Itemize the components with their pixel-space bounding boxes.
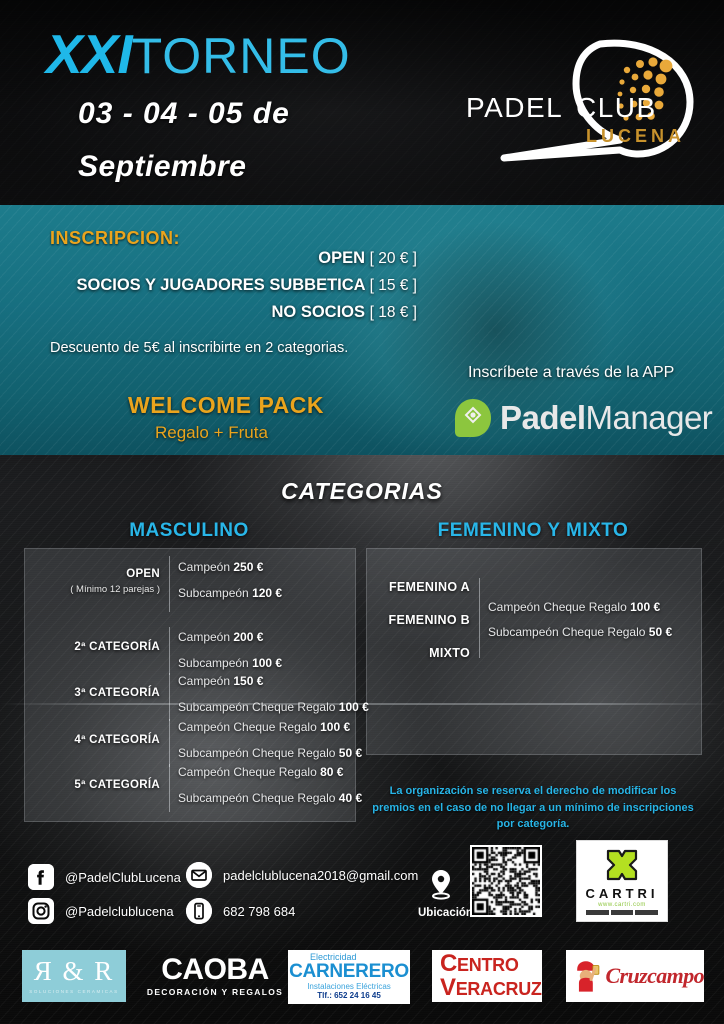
cartri-wordmark: CARTRI <box>585 886 658 901</box>
prize-amount: 50 € <box>649 625 672 639</box>
sponsor-centro-veracruz[interactable]: CENTRO VERACRUZ <box>432 950 542 1002</box>
tournament-poster: XXITORNEO 03 - 04 - 05 de Septiembre PAD… <box>0 0 724 1024</box>
sponsor-caoba[interactable]: CAOBA DECORACIÓN Y REGALOS <box>144 950 286 1002</box>
prize-amount: 150 € <box>233 674 263 688</box>
veracruz-text-centro: ENTRO <box>457 955 519 975</box>
mixto-label: MIXTO <box>370 646 470 660</box>
app-instruction: Inscríbete a través de la APP <box>468 364 674 382</box>
carnerero-phone: Tlf.: 652 24 16 45 <box>317 991 381 1001</box>
prize-text: Subcampeón Cheque Regalo <box>178 700 339 714</box>
cartri-sponsor-logo[interactable]: CARTRI www.cartri.com <box>576 840 668 922</box>
fee-label: OPEN <box>318 249 365 267</box>
discount-note: Descuento de 5€ al inscribirte en 2 cate… <box>50 340 348 356</box>
prize-line: Campeón Cheque Regalo 100 € <box>178 720 350 734</box>
prize-line: Subcampeón Cheque Regalo 40 € <box>178 791 362 805</box>
prize-text: Subcampeón <box>178 586 252 600</box>
fee-amount: [ 15 € ] <box>370 277 417 294</box>
logo-word-lucena: LUCENA <box>586 126 685 147</box>
prize-text: Campeón <box>178 674 233 688</box>
welcome-pack-title: WELCOME PACK <box>128 392 324 419</box>
sponsor-rr[interactable]: Я & R SOLUCIONES CERAMICAS <box>22 950 126 1002</box>
padelmanager-word-light: Manager <box>586 399 713 437</box>
qr-canvas <box>472 847 540 915</box>
cartri-url: www.cartri.com <box>598 902 646 908</box>
carnerero-line3: Instalaciones Eléctricas <box>307 982 391 992</box>
email-address: padelclublucena2018@gmail.com <box>223 868 418 883</box>
caoba-tagline: DECORACIÓN Y REGALOS <box>147 987 283 997</box>
category-sublabel: ( Mínimo 12 parejas ) <box>10 584 160 595</box>
phone-number: 682 798 684 <box>223 904 295 919</box>
prize-disclaimer: La organización se reserva el derecho de… <box>370 783 696 833</box>
edition-number: XXI <box>46 23 132 85</box>
fee-row: OPEN [ 20 € ] <box>318 249 417 268</box>
contact-email[interactable]: padelclublucena2018@gmail.com <box>186 862 418 888</box>
sponsor-carnerero[interactable]: Electricidad CARNERERO Instalaciones Elé… <box>288 950 410 1004</box>
femenino-label: FEMENINO A <box>370 580 470 594</box>
prize-line: Subcampeón 120 € <box>178 586 282 600</box>
qr-code[interactable] <box>470 845 542 917</box>
padel-club-lucena-logo: PADEL CLUB LUCENA <box>452 36 702 166</box>
event-word: TORNEO <box>132 28 351 84</box>
fee-label: SOCIOS Y JUGADORES SUBBETICA <box>76 276 365 294</box>
row-divider <box>169 673 170 721</box>
prize-amount: 100 € <box>339 700 369 714</box>
prize-text: Campeón Cheque Regalo <box>178 720 320 734</box>
veracruz-cap-v: V <box>440 974 456 1001</box>
sponsor-strip: Я & R SOLUCIONES CERAMICAS CAOBA DECORAC… <box>0 938 724 1024</box>
prize-amount: 40 € <box>339 791 362 805</box>
veracruz-text-eracruz: ERACRUZ <box>456 979 542 999</box>
inscription-title: INSCRIPCION: <box>50 228 180 249</box>
prize-text: Subcampeón Cheque Regalo <box>178 746 339 760</box>
welcome-pack-subtitle: Regalo + Fruta <box>155 423 268 443</box>
cruzcampo-mascot-icon <box>572 954 601 998</box>
category-label: 3ª CATEGORÍA <box>10 687 160 699</box>
prize-line: Subcampeón Cheque Regalo 50 € <box>178 746 362 760</box>
cartri-social-bar <box>586 910 658 915</box>
carnerero-wordmark: CARNERERO <box>289 962 409 982</box>
event-dates: 03 - 04 - 05 de <box>78 97 290 131</box>
category-label: 2ª CATEGORÍA <box>10 641 160 653</box>
location-block[interactable]: Ubicación <box>418 868 464 919</box>
padelmanager-logo[interactable]: PadelManager <box>452 395 712 441</box>
prize-line: Campeón 200 € <box>178 630 263 644</box>
prize-text: Subcampeón Cheque Regalo <box>178 791 339 805</box>
categories-heading: CATEGORIAS <box>0 478 724 505</box>
rr-tagline: SOLUCIONES CERAMICAS <box>29 989 119 994</box>
row-divider <box>169 764 170 812</box>
prize-line: Campeón 150 € <box>178 674 263 688</box>
femenino-label: FEMENINO B <box>370 613 470 627</box>
event-month: Septiembre <box>78 150 246 184</box>
prize-amount: 250 € <box>233 560 263 574</box>
envelope-icon <box>186 862 212 888</box>
femenino-mixto-title: FEMENINO Y MIXTO <box>366 520 700 542</box>
veracruz-cap-c: C <box>440 950 457 977</box>
facebook-handle: @PadelClubLucena <box>65 870 181 885</box>
contact-facebook[interactable]: @PadelClubLucena <box>28 864 181 890</box>
instagram-icon <box>28 898 54 924</box>
prize-amount: 100 € <box>320 720 350 734</box>
prize-amount: 100 € <box>252 656 282 670</box>
contact-instagram[interactable]: @Padelclublucena <box>28 898 174 924</box>
prize-amount: 120 € <box>252 586 282 600</box>
event-title: XXITORNEO <box>46 22 351 86</box>
cartri-mark-icon <box>599 845 645 885</box>
contact-phone[interactable]: 682 798 684 <box>186 898 295 924</box>
veracruz-line2: VERACRUZ <box>440 976 542 1000</box>
prize-text: Subcampeón Cheque Regalo <box>488 625 649 639</box>
prize-text: Subcampeón <box>178 656 252 670</box>
veracruz-line1: CENTRO <box>440 952 519 976</box>
fee-amount: [ 20 € ] <box>370 250 417 267</box>
masculino-title: MASCULINO <box>24 520 354 542</box>
location-label: Ubicación <box>418 907 464 919</box>
rr-wordmark: Я & R <box>34 958 115 985</box>
category-label: 4ª CATEGORÍA <box>10 734 160 746</box>
row-divider <box>169 556 170 612</box>
fee-row: SOCIOS Y JUGADORES SUBBETICA [ 15 € ] <box>76 276 417 295</box>
prize-text: Campeón Cheque Regalo <box>178 765 320 779</box>
cruzcampo-wordmark: Cruzcampo <box>605 963 704 989</box>
prize-line: Campeón Cheque Regalo 100 € <box>488 600 660 614</box>
caoba-wordmark: CAOBA <box>161 955 269 985</box>
prize-line: Campeón 250 € <box>178 560 263 574</box>
category-label: 5ª CATEGORÍA <box>10 779 160 791</box>
prize-amount: 100 € <box>630 600 660 614</box>
location-pin-icon <box>428 868 454 900</box>
prize-amount: 200 € <box>233 630 263 644</box>
fee-amount: [ 18 € ] <box>370 304 417 321</box>
logo-word-padel: PADEL <box>466 92 563 124</box>
phone-icon <box>186 898 212 924</box>
prize-text: Campeón Cheque Regalo <box>488 600 630 614</box>
sponsor-cruzcampo[interactable]: Cruzcampo <box>566 950 704 1002</box>
padelmanager-word-bold: Padel <box>500 399 586 437</box>
padelmanager-mark-icon <box>452 397 494 439</box>
fee-row: NO SOCIOS [ 18 € ] <box>271 303 417 322</box>
prize-line: Campeón Cheque Regalo 80 € <box>178 765 343 779</box>
prize-amount: 80 € <box>320 765 343 779</box>
category-label: OPEN <box>10 568 160 580</box>
row-divider <box>169 627 170 675</box>
prize-text: Campeón <box>178 560 233 574</box>
facebook-icon <box>28 864 54 890</box>
logo-word-club: CLUB <box>576 92 657 124</box>
prize-amount: 50 € <box>339 746 362 760</box>
row-divider <box>169 719 170 767</box>
femenino-divider <box>479 578 480 658</box>
prize-line: Subcampeón Cheque Regalo 100 € <box>178 700 369 714</box>
prize-text: Campeón <box>178 630 233 644</box>
fee-label: NO SOCIOS <box>271 303 365 321</box>
prize-line: Subcampeón 100 € <box>178 656 282 670</box>
prize-line: Subcampeón Cheque Regalo 50 € <box>488 625 672 639</box>
instagram-handle: @Padelclublucena <box>65 904 174 919</box>
